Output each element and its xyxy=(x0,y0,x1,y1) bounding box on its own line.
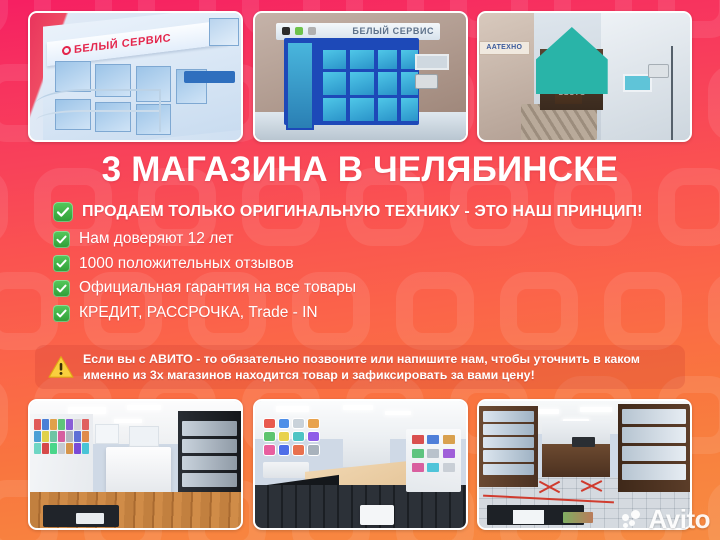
photo-storefront-belaya-tehnika[interactable]: AATEXHO БЕЛАЯТЕХНИКА xyxy=(477,11,692,142)
feature-label: ПРОДАЕМ ТОЛЬКО ОРИГИНАЛЬНУЮ ТЕХНИКУ - ЭТ… xyxy=(82,202,643,221)
page-title: 3 МАГАЗИНА В ЧЕЛЯБИНСКЕ xyxy=(0,152,720,187)
warning-banner: Если вы с АВИТО - то обязательно позвони… xyxy=(35,345,685,389)
bottom-photo-strip xyxy=(28,399,692,530)
avito-watermark: Avito xyxy=(622,506,710,532)
feature-label: 1000 положительных отзывов xyxy=(79,255,294,274)
warning-text: Если вы с АВИТО - то обязательно позвони… xyxy=(83,351,673,384)
green-check-icon xyxy=(53,255,70,272)
photo-storefront-white-service[interactable]: БЕЛЫЙ СЕРВИС xyxy=(28,11,243,142)
green-check-icon xyxy=(53,280,70,297)
photo-interior-light-counter-wall-art[interactable] xyxy=(253,399,468,530)
green-check-icon xyxy=(53,305,70,322)
green-check-icon xyxy=(53,202,73,222)
feature-item: ПРОДАЕМ ТОЛЬКО ОРИГИНАЛЬНУЮ ТЕХНИКУ - ЭТ… xyxy=(53,202,693,222)
photo-storefront-blue-entrance[interactable]: БЕЛЫЙ СЕРВИС xyxy=(253,11,468,142)
avito-watermark-text: Avito xyxy=(648,506,710,532)
feature-label: Нам доверяют 12 лет xyxy=(79,230,233,249)
feature-item: КРЕДИТ, РАССРОЧКА, Trade - IN xyxy=(53,304,693,323)
feature-item: Официальная гарантия на все товары xyxy=(53,279,693,298)
avito-logo-icon xyxy=(622,508,646,530)
feature-list: ПРОДАЕМ ТОЛЬКО ОРИГИНАЛЬНУЮ ТЕХНИКУ - ЭТ… xyxy=(53,202,693,328)
feature-label: Официальная гарантия на все товары xyxy=(79,279,356,298)
warning-triangle-icon xyxy=(48,355,74,379)
green-check-icon xyxy=(53,231,70,248)
feature-item: 1000 положительных отзывов xyxy=(53,255,693,274)
feature-label: КРЕДИТ, РАССРОЧКА, Trade - IN xyxy=(79,304,318,323)
promo-poster: БЕЛЫЙ СЕРВИС БЕЛЫЙ СЕРВИС xyxy=(0,0,720,540)
photo-interior-wood-floor-counter[interactable] xyxy=(28,399,243,530)
photo-neighbor-sign-3: AATEXHO xyxy=(479,41,530,55)
top-photo-strip: БЕЛЫЙ СЕРВИС БЕЛЫЙ СЕРВИС xyxy=(28,11,692,142)
feature-item: Нам доверяют 12 лет xyxy=(53,230,693,249)
